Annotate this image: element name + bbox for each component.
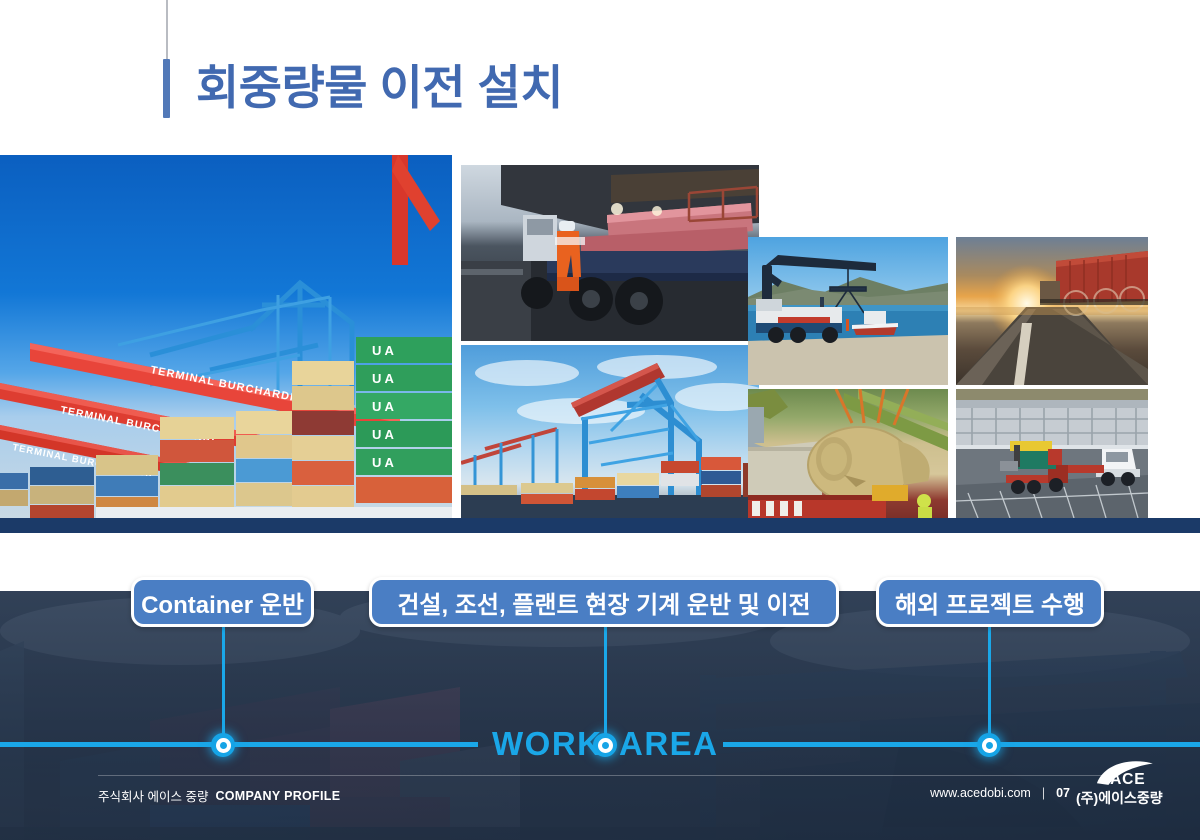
work-area-heading-right: AREA — [619, 725, 719, 763]
callout-site-machinery-transport[interactable]: 건설, 조선, 플랜트 현장 기계 운반 및 이전 — [369, 577, 839, 627]
footer-divider — [98, 775, 1110, 776]
timeline-stem-2 — [604, 627, 607, 743]
svg-text:U A: U A — [372, 343, 395, 358]
photo-container-terminal-gantry-cranes: TERMINAL BURCHARDKAI TERMINAL BURCHARDKA… — [0, 155, 452, 518]
photo-port-gantry-cranes-and-containers — [461, 345, 759, 518]
callout-overseas-project[interactable]: 해외 프로젝트 수행 — [876, 577, 1104, 627]
photo-container-truck-on-highway-at-sunset — [956, 237, 1148, 385]
navy-divider-band — [0, 518, 1200, 533]
ace-logo-mark: ACE — [1092, 758, 1184, 792]
photo-knuckle-boom-crane-truck-at-harbour — [748, 237, 948, 385]
svg-text:U A: U A — [372, 455, 395, 470]
title-accent-bar — [163, 59, 170, 118]
photo-pressure-vessel-lifted-by-crane — [748, 389, 948, 518]
svg-text:U A: U A — [372, 371, 395, 386]
timeline-line-left — [0, 742, 478, 747]
svg-text:U A: U A — [372, 399, 395, 414]
ace-logo-korean-name: (주)에이스중량 — [1076, 788, 1163, 808]
ace-logo: ACE (주)에이스중량 — [1078, 758, 1190, 808]
footer-company-en: COMPANY PROFILE — [215, 789, 340, 803]
timeline-line-right — [723, 742, 1200, 747]
callout-container-transport[interactable]: Container 운반 — [131, 577, 314, 627]
slide-root: 회중량물 이전 설치 — [0, 0, 1200, 840]
footer-separator: | — [1042, 786, 1045, 800]
photo-lowbed-trailer-hauling-paver — [956, 389, 1148, 518]
timeline-stem-1 — [222, 627, 225, 743]
svg-text:U A: U A — [372, 427, 395, 442]
footer-left: 주식회사 에이스 중량 COMPANY PROFILE — [98, 786, 340, 805]
work-area-heading-left: WORK — [492, 725, 602, 763]
photo-steel-beams-loaded-on-trailer — [461, 165, 759, 341]
footer-website[interactable]: www.acedobi.com — [930, 786, 1031, 800]
timeline-marker-1[interactable] — [211, 733, 235, 757]
title-rule-thin-decoration — [166, 0, 168, 59]
timeline-stem-3 — [988, 627, 991, 743]
svg-text:ACE: ACE — [1110, 771, 1145, 788]
photo-collage: TERMINAL BURCHARDKAI TERMINAL BURCHARDKA… — [0, 155, 1140, 518]
page-title: 회중량물 이전 설치 — [196, 57, 563, 118]
footer-company-kr: 주식회사 에이스 중량 — [98, 786, 208, 805]
timeline-marker-3[interactable] — [977, 733, 1001, 757]
footer-page-number: 07 — [1056, 786, 1070, 800]
footer-right: www.acedobi.com | 07 — [930, 786, 1070, 800]
